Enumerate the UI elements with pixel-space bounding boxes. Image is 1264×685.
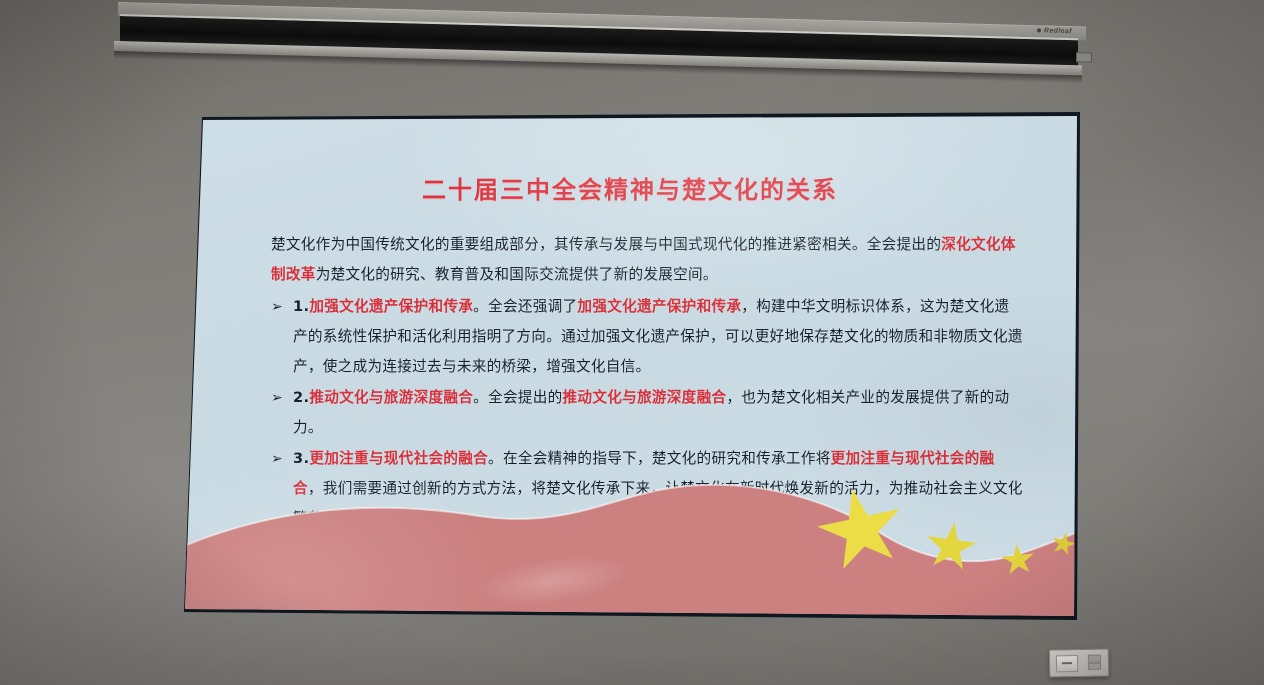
lead-text-part2: 为楚文化的研究、教育普及和国际交流提供了新的发展空间。: [316, 266, 718, 283]
item-highlight: 加强文化遗产保护和传承: [577, 298, 741, 315]
lead-text-part1: 楚文化作为中国传统文化的重要组成部分，其传承与发展与中国式现代化的推进紧密相关。…: [271, 236, 941, 253]
item-number: 2.: [293, 389, 309, 406]
item-text-a: 。全会还强调了: [473, 298, 577, 315]
item-highlight: 推动文化与旅游深度融合: [563, 389, 727, 406]
brand-dot-icon: [1037, 28, 1041, 32]
wall-light-switch[interactable]: [1049, 648, 1109, 677]
projected-slide-frame: 二十届三中全会精神与楚文化的关系 楚文化作为中国传统文化的重要组成部分，其传承与…: [180, 112, 1080, 622]
switch-indicator-icon: [1088, 662, 1101, 670]
item-heading: 推动文化与旅游深度融合: [309, 389, 473, 406]
arrow-bullet-icon: ➢: [271, 383, 283, 413]
item-heading: 更加注重与现代社会的融合: [309, 450, 488, 467]
switch-indicator-group: [1088, 655, 1101, 670]
housing-brand-logo: Redleaf: [1037, 27, 1072, 35]
item-number: 3.: [293, 450, 309, 467]
list-item: ➢ 1.加强文化遗产保护和传承。全会还强调了加强文化遗产保护和传承，构建中华文明…: [271, 292, 1023, 382]
item-text-a: 。在全会精神的指导下，楚文化的研究和传承工作将: [488, 450, 831, 467]
classroom-scene: Redleaf 二十届三中全会精神与楚文化的关系 楚文化作为中国传统文化的重要组…: [0, 0, 1264, 685]
item-heading: 加强文化遗产保护和传承: [309, 298, 473, 315]
housing-mount-bracket: [1076, 52, 1092, 62]
item-number: 1.: [293, 298, 309, 315]
arrow-bullet-icon: ➢: [271, 292, 283, 322]
projection-screen-housing: Redleaf: [118, 2, 1086, 89]
switch-rocker-icon[interactable]: [1056, 655, 1078, 672]
lead-paragraph: 楚文化作为中国传统文化的重要组成部分，其传承与发展与中国式现代化的推进紧密相关。…: [271, 230, 1023, 290]
presentation-slide: 二十届三中全会精神与楚文化的关系 楚文化作为中国传统文化的重要组成部分，其传承与…: [183, 116, 1077, 618]
slide-title: 二十届三中全会精神与楚文化的关系: [183, 170, 1077, 205]
item-text-a: 。全会提出的: [473, 389, 562, 406]
list-item: ➢ 2.推动文化与旅游深度融合。全会提出的推动文化与旅游深度融合，也为楚文化相关…: [271, 383, 1023, 443]
